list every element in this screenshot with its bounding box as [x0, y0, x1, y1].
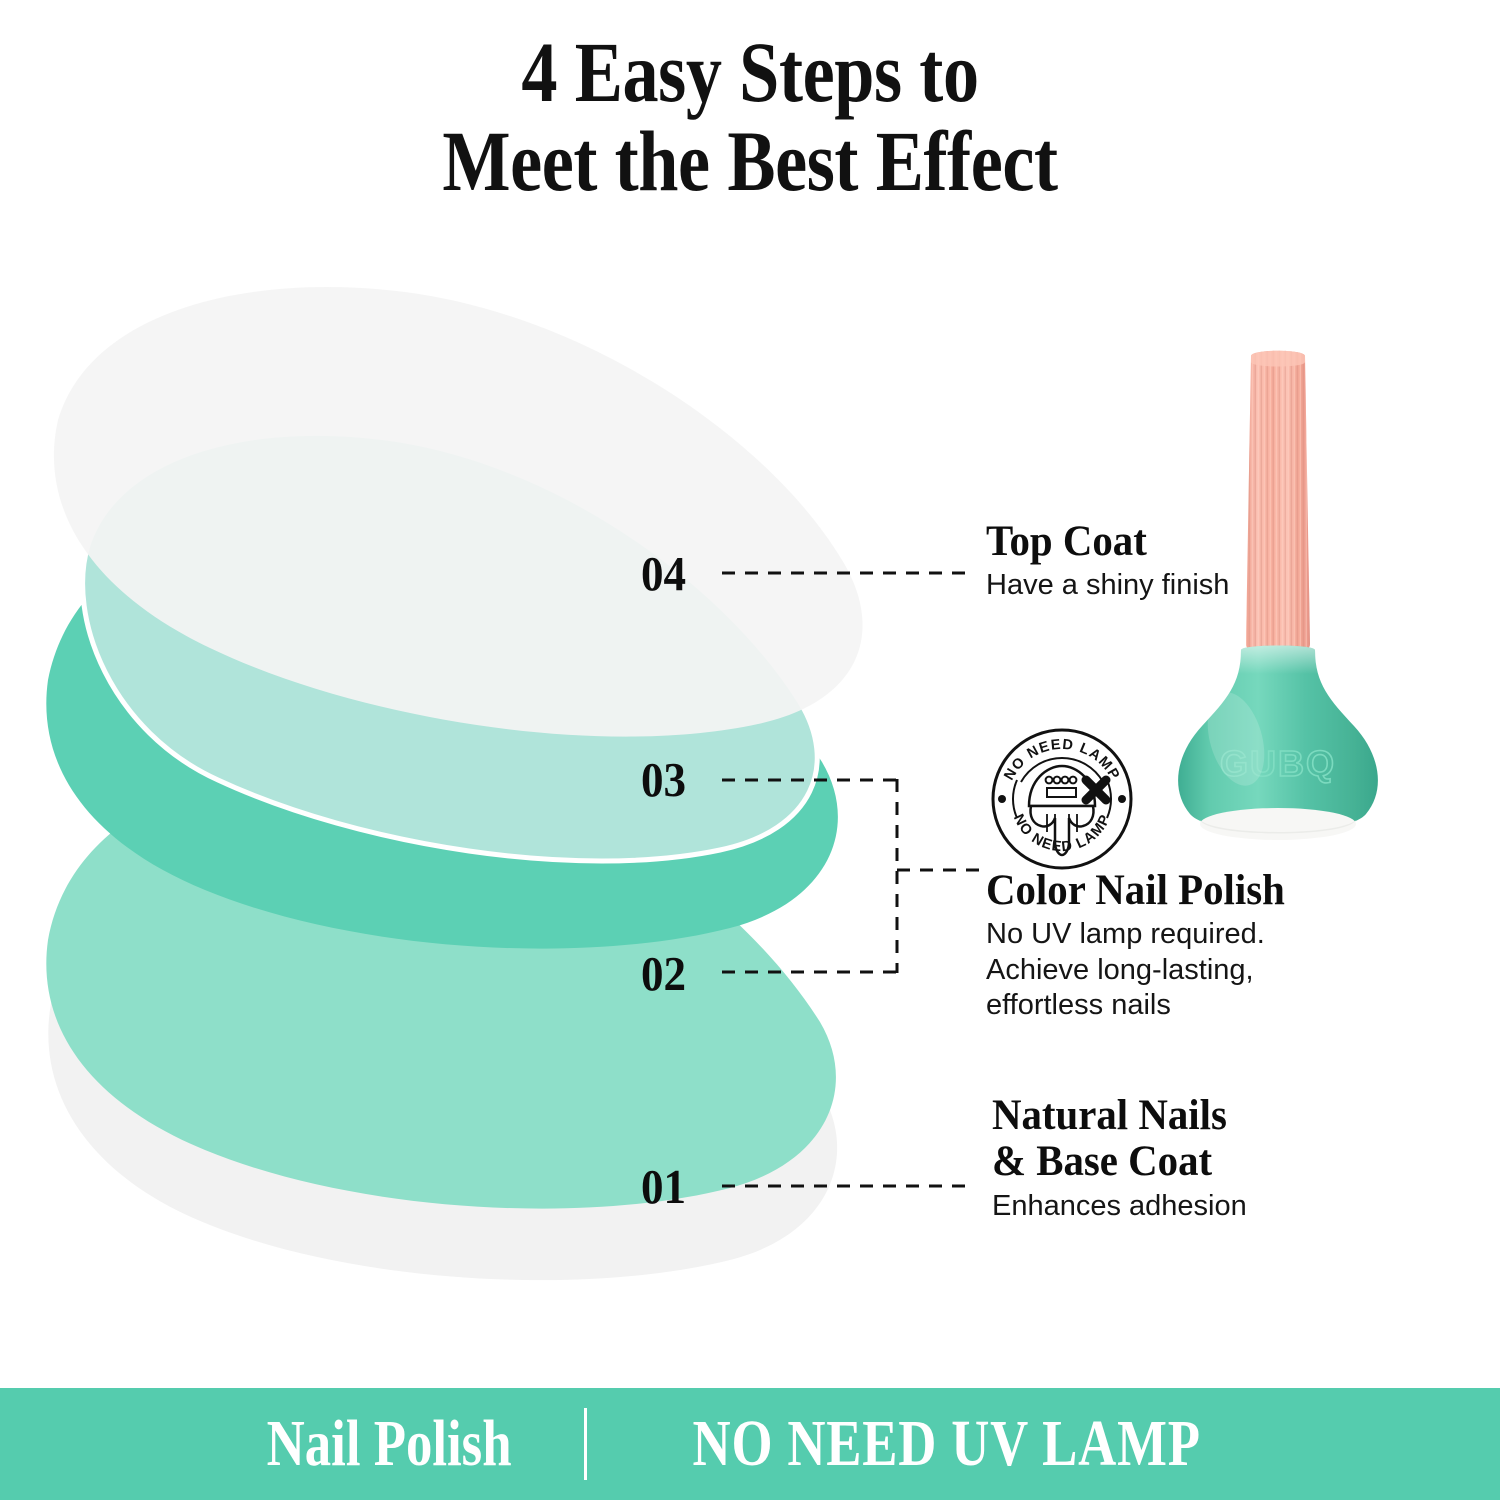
- step-number-01: 01: [641, 1158, 686, 1215]
- bottle-cap: [1238, 344, 1328, 674]
- step-number-04: 04: [641, 545, 686, 602]
- label-natural-nails: Natural Nails & Base Coat Enhances adhes…: [992, 1093, 1247, 1224]
- label-natural-nails-heading-1: Natural Nails: [992, 1093, 1234, 1139]
- bottle-svg: GUBQ: [1158, 344, 1398, 874]
- title-line-2: Meet the Best Effect: [120, 117, 1380, 206]
- bottle-glass-body: GUBQ: [1178, 646, 1378, 841]
- page-title: 4 Easy Steps to Meet the Best Effect: [0, 28, 1500, 207]
- banner-left-text: Nail Polish: [266, 1411, 511, 1477]
- label-color-nail-polish-sub-1: No UV lamp required.: [986, 917, 1301, 952]
- infographic-page: 4 Easy Steps to Meet the Best Effect 04 …: [0, 0, 1500, 1500]
- layer-stack-svg: [30, 250, 870, 1310]
- step-number-03: 03: [641, 751, 686, 808]
- bottom-banner: Nail Polish NO NEED UV LAMP: [0, 1388, 1500, 1500]
- bottle-base: [1200, 808, 1356, 840]
- label-natural-nails-heading-2: & Base Coat: [992, 1139, 1234, 1185]
- title-line-1: 4 Easy Steps to: [120, 28, 1380, 117]
- no-need-lamp-stamp-icon: NO NEED LAMP NO NEED LAMP: [985, 722, 1139, 876]
- nail-polish-bottle-image: GUBQ: [1158, 344, 1398, 874]
- lamp-led-1: [1046, 777, 1053, 784]
- lamp-led-4: [1070, 777, 1077, 784]
- lamp-display: [1047, 788, 1076, 797]
- label-color-nail-polish: Color Nail Polish No UV lamp required. A…: [986, 868, 1301, 1024]
- lamp-led-3: [1062, 777, 1069, 784]
- stamp-dot-right: [1118, 795, 1126, 803]
- banner-right-text: NO NEED UV LAMP: [692, 1411, 1200, 1477]
- stamp-svg: NO NEED LAMP NO NEED LAMP: [985, 722, 1139, 876]
- label-natural-nails-sub: Enhances adhesion: [992, 1189, 1247, 1224]
- banner-divider: [584, 1408, 587, 1480]
- stamp-dot-left: [998, 795, 1006, 803]
- lamp-led-2: [1054, 777, 1061, 784]
- label-color-nail-polish-sub-3: effortless nails: [986, 988, 1301, 1023]
- step-number-02: 02: [641, 945, 686, 1002]
- label-color-nail-polish-sub-2: Achieve long-lasting,: [986, 953, 1301, 988]
- nail-layer-stack: [30, 250, 870, 1310]
